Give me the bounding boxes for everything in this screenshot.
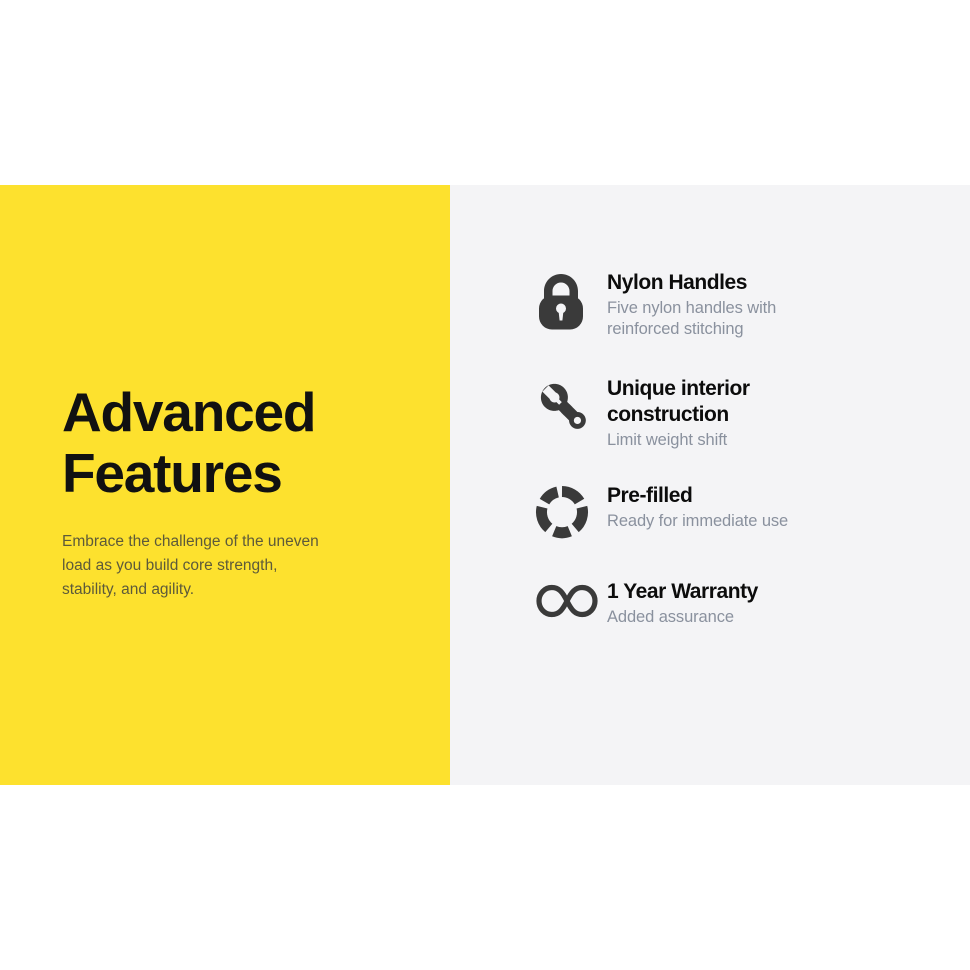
feature-item-nylon-handles: Nylon Handles Five nylon handles with re… — [535, 270, 955, 340]
infinity-icon — [535, 579, 607, 621]
intro-paragraph: Embrace the challenge of the uneven load… — [62, 530, 382, 602]
feature-title: 1 Year Warranty — [607, 579, 955, 605]
feature-item-pre-filled: Pre-filled Ready for immediate use — [535, 483, 955, 539]
feature-title: Unique interior construction — [607, 376, 955, 429]
feature-item-warranty: 1 Year Warranty Added assurance — [535, 579, 955, 628]
feature-text: Unique interior construction Limit weigh… — [607, 376, 955, 451]
segmented-donut-icon — [535, 483, 607, 539]
feature-subtitle: Five nylon handles with reinforced stitc… — [607, 298, 955, 340]
feature-title: Pre-filled — [607, 483, 955, 509]
padlock-icon — [535, 270, 607, 332]
left-yellow-panel: Advanced Features Embrace the challenge … — [0, 185, 450, 785]
feature-text: Pre-filled Ready for immediate use — [607, 483, 955, 532]
wrench-icon — [535, 376, 607, 436]
feature-subtitle: Limit weight shift — [607, 430, 955, 451]
page-title: Advanced Features — [62, 382, 402, 504]
feature-text: Nylon Handles Five nylon handles with re… — [607, 270, 955, 340]
feature-item-unique-interior-construction: Unique interior construction Limit weigh… — [535, 376, 955, 451]
feature-title: Nylon Handles — [607, 270, 955, 296]
feature-subtitle: Added assurance — [607, 607, 955, 628]
feature-slide: Advanced Features Embrace the challenge … — [0, 0, 970, 970]
right-features-panel: Nylon Handles Five nylon handles with re… — [450, 185, 970, 785]
feature-list: Nylon Handles Five nylon handles with re… — [535, 270, 955, 628]
feature-subtitle: Ready for immediate use — [607, 511, 955, 532]
feature-text: 1 Year Warranty Added assurance — [607, 579, 955, 628]
